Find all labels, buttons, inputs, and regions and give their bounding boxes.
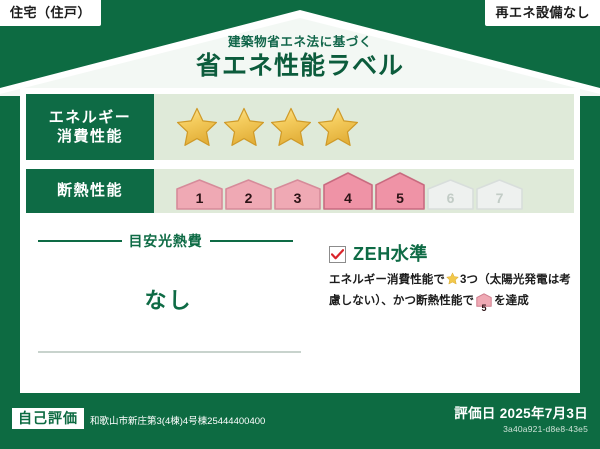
divider-left — [38, 240, 122, 242]
badge-renewable-energy: 再エネ設備なし — [485, 0, 600, 26]
title-subtitle: 建築物省エネ法に基づく — [0, 36, 600, 49]
zeh-header: ZEH水準 — [329, 245, 574, 263]
insulation-level-number: 2 — [225, 191, 272, 205]
evaluation-id: 3a40a921-d8e8-43e5 — [454, 425, 588, 434]
label-title-block: 建築物省エネ法に基づく 省エネ性能ラベル — [0, 36, 600, 79]
zeh-panel: ZEH水準 エネルギー消費性能で3つ（太陽光発電は考慮しない）、かつ断熱性能で5… — [311, 223, 574, 383]
utility-cost-value: なし — [26, 283, 311, 315]
row-insulation-value: 1234567 — [154, 169, 574, 213]
insulation-level-number: 6 — [427, 191, 474, 205]
star-icon — [270, 106, 312, 148]
row-energy-label-line2: 消費性能 — [57, 127, 123, 146]
star-icon — [223, 106, 265, 148]
row-insulation-label-text: 断熱性能 — [57, 181, 123, 200]
row-energy-value — [154, 94, 574, 160]
label-card: エネルギー 消費性能 断熱性能 1234567 目安光熱費 なし — [20, 88, 580, 393]
zeh-checkbox[interactable] — [329, 246, 346, 263]
star-rating — [176, 106, 359, 148]
insulation-level-number: 3 — [274, 191, 321, 205]
evaluation-date-value: 2025年7月3日 — [500, 406, 588, 421]
row-energy-label: エネルギー 消費性能 — [26, 94, 154, 160]
zeh-description: エネルギー消費性能で3つ（太陽光発電は考慮しない）、かつ断熱性能で5を達成 — [329, 271, 574, 314]
page-title: 省エネ性能ラベル — [0, 54, 600, 79]
property-address: 和歌山市新庄第3(4棟)4号棟25444400400 — [90, 413, 265, 429]
divider-bottom — [38, 351, 301, 353]
zeh-desc-part1: エネルギー消費性能で — [329, 274, 445, 286]
insulation-scale: 1234567 — [176, 172, 523, 210]
zeh-title: ZEH水準 — [353, 245, 428, 263]
insulation-level-1: 1 — [176, 179, 223, 210]
star-icon — [317, 106, 359, 148]
insulation-level-number: 4 — [323, 191, 373, 205]
insulation-level-5: 5 — [375, 172, 425, 210]
row-insulation-label: 断熱性能 — [26, 169, 154, 213]
insulation-level-number: 1 — [176, 191, 223, 205]
utility-cost-title: 目安光熱費 — [129, 231, 203, 251]
check-icon — [331, 249, 344, 260]
insulation-level-2: 2 — [225, 179, 272, 210]
evaluation-date: 評価日 2025年7月3日 — [454, 406, 588, 422]
insulation-level-number: 7 — [476, 191, 523, 205]
insulation-level-6: 6 — [427, 179, 474, 210]
footer-left: 自己評価 和歌山市新庄第3(4棟)4号棟25444400400 — [12, 408, 265, 429]
card-bottom-section: 目安光熱費 なし ZEH水準 エネルギー消費性能で3つ（太陽光発電は考慮しない）… — [20, 223, 580, 383]
row-energy-label-line1: エネルギー — [49, 108, 132, 127]
row-insulation-performance: 断熱性能 1234567 — [26, 169, 574, 213]
inline-level-badge: 5 — [476, 293, 492, 314]
insulation-level-3: 3 — [274, 179, 321, 210]
self-evaluation-badge: 自己評価 — [12, 408, 84, 429]
inline-level-badge-number: 5 — [476, 304, 492, 313]
insulation-level-number: 5 — [375, 191, 425, 205]
insulation-level-4: 4 — [323, 172, 373, 210]
star-icon — [176, 106, 218, 148]
divider-right — [210, 240, 294, 242]
footer-right: 評価日 2025年7月3日 3a40a921-d8e8-43e5 — [454, 406, 588, 434]
footer: 自己評価 和歌山市新庄第3(4棟)4号棟25444400400 評価日 2025… — [0, 400, 600, 449]
utility-cost-panel: 目安光熱費 なし — [26, 223, 311, 383]
utility-cost-header: 目安光熱費 — [26, 223, 311, 251]
insulation-level-7: 7 — [476, 179, 523, 210]
star-icon — [446, 276, 459, 288]
row-energy-performance: エネルギー 消費性能 — [26, 94, 574, 160]
evaluation-date-label: 評価日 — [454, 406, 495, 421]
badge-building-type: 住宅（住戸） — [0, 0, 101, 26]
zeh-desc-part3: を達成 — [494, 295, 529, 307]
